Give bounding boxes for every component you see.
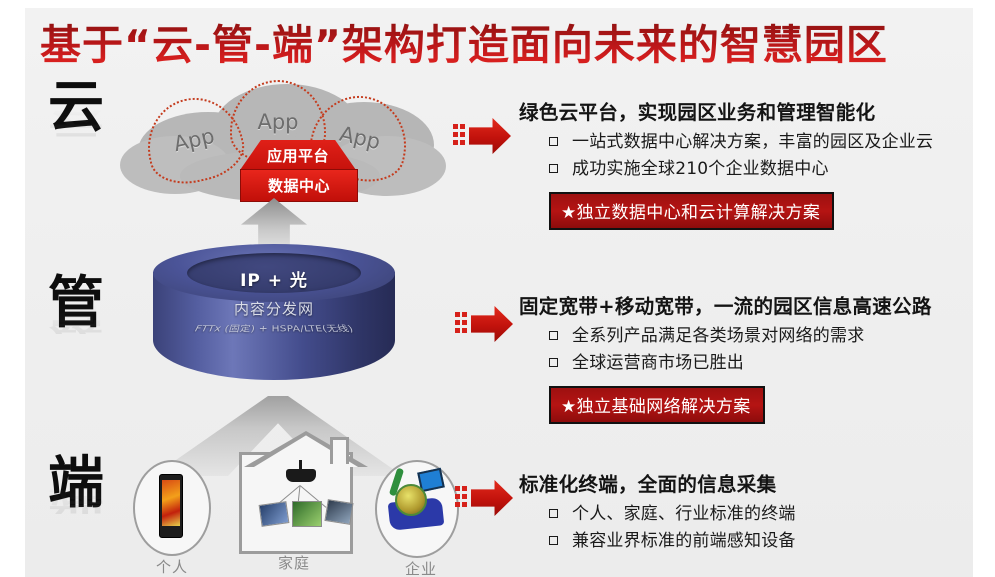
block-bullet-list: 个人、家庭、行业标准的终端 兼容业界标准的前端感知设备: [497, 503, 973, 553]
terminal-enterprise: 企业: [375, 460, 467, 577]
platform-top-label: 应用平台: [267, 145, 329, 166]
side-label-end: 端 端: [33, 456, 119, 570]
status-badge: ★独立基础网络解决方案: [549, 386, 765, 424]
block-heading: 固定宽带+移动宽带，一流的园区信息高速公路: [519, 290, 973, 319]
block-heading: 标准化终端，全面的信息采集: [519, 468, 973, 497]
block-heading: 绿色云平台，实现园区业务和管理智能化: [519, 96, 973, 125]
terminal-home: 家庭: [229, 448, 359, 577]
list-item: 个人、家庭、行业标准的终端: [497, 503, 973, 526]
list-item: 全球运营商市场已胜出: [497, 352, 973, 375]
chimney-icon: [330, 437, 349, 464]
block-bullet-list: 一站式数据中心解决方案，丰富的园区及企业云 成功实施全球210个企业数据中心: [497, 131, 973, 181]
list-item-text: 全球运营商市场已胜出: [572, 352, 744, 375]
bullet-square-icon: [549, 331, 558, 340]
data-center-platform: 应用平台 数据中心: [240, 140, 356, 200]
bullet-square-icon: [549, 358, 558, 367]
bullet-square-icon: [549, 536, 558, 545]
slide-root: 基于“云-管-端”架构打造面向未来的智慧园区 基于“云-管-端”架构打造面向未来…: [0, 0, 995, 577]
terminal-caption: 企业: [375, 558, 467, 577]
platform-bottom-band: 数据中心: [240, 169, 358, 202]
arrow-dots: [455, 486, 473, 510]
app-bubble-label: App: [171, 124, 216, 157]
list-item-text: 个人、家庭、行业标准的终端: [572, 503, 796, 526]
water-meter-dial: [395, 484, 427, 516]
block-bullet-list: 全系列产品满足各类场景对网络的需求 全球运营商市场已胜出: [497, 325, 973, 375]
tv-icon: [292, 501, 322, 527]
list-item-text: 全系列产品满足各类场景对网络的需求: [572, 325, 864, 348]
status-badge: ★独立数据中心和云计算解决方案: [549, 192, 834, 230]
arrow-dots: [455, 312, 473, 336]
list-item: 全系列产品满足各类场景对网络的需求: [497, 325, 973, 348]
bullet-square-icon: [549, 137, 558, 146]
terminal-caption: 个人: [133, 556, 211, 577]
content-block-cloud: 绿色云平台，实现园区业务和管理智能化 一站式数据中心解决方案，丰富的园区及企业云…: [497, 96, 973, 230]
list-item: 一站式数据中心解决方案，丰富的园区及企业云: [497, 131, 973, 154]
side-label-cloud-reflection: 云: [33, 107, 119, 138]
list-item: 成功实施全球210个企业数据中心: [497, 158, 973, 181]
list-item: 兼容业界标准的前端感知设备: [497, 530, 973, 553]
network-cylinder-graphic: IP + 光 内容分发网 FTTx (固定) + HSPA/LTE(无线): [153, 244, 395, 404]
content-block-pipe: 固定宽带+移动宽带，一流的园区信息高速公路 全系列产品满足各类场景对网络的需求 …: [497, 290, 973, 424]
cylinder-line-1: IP + 光: [153, 266, 395, 291]
home-network-icon: [239, 452, 353, 554]
status-badge-text: ★独立基础网络解决方案: [561, 397, 751, 417]
app-bubble-label: App: [257, 110, 298, 134]
list-item-text: 一站式数据中心解决方案，丰富的园区及企业云: [572, 131, 933, 154]
phone-screen: [162, 480, 180, 526]
smartphone-icon: [159, 474, 183, 538]
side-label-pipe-reflection: 管: [33, 303, 119, 334]
tablet-icon: [324, 499, 353, 525]
cylinder-line-2: 内容分发网: [153, 298, 395, 319]
arrow-dots: [453, 124, 471, 148]
terminal-caption: 家庭: [229, 552, 359, 573]
page-title: 基于“云-管-端”架构打造面向未来的智慧园区: [40, 16, 940, 74]
status-badge-text: ★独立数据中心和云计算解决方案: [561, 203, 820, 223]
platform-top-band: 应用平台: [240, 140, 356, 170]
content-block-terminal: 标准化终端，全面的信息采集 个人、家庭、行业标准的终端 兼容业界标准的前端感知设…: [497, 468, 973, 557]
access-point-icon: [286, 469, 316, 482]
bullet-square-icon: [549, 509, 558, 518]
terminal-personal: 个人: [133, 460, 211, 577]
platform-bottom-label: 数据中心: [268, 175, 330, 196]
side-label-cloud: 云 云: [33, 80, 119, 194]
laptop-icon: [259, 501, 290, 527]
cloud-graphic: App App App 应用平台 数据中心: [120, 78, 450, 208]
list-item-text: 兼容业界标准的前端感知设备: [572, 530, 796, 553]
list-item-text: 成功实施全球210个企业数据中心: [572, 158, 829, 181]
side-label-pipe: 管 管: [33, 276, 119, 390]
slide-canvas: 基于“云-管-端”架构打造面向未来的智慧园区 基于“云-管-端”架构打造面向未来…: [25, 8, 973, 577]
cylinder-line-3: FTTx (固定) + HSPA/LTE(无线): [148, 323, 400, 335]
side-label-end-reflection: 端: [33, 483, 119, 514]
bullet-square-icon: [549, 164, 558, 173]
